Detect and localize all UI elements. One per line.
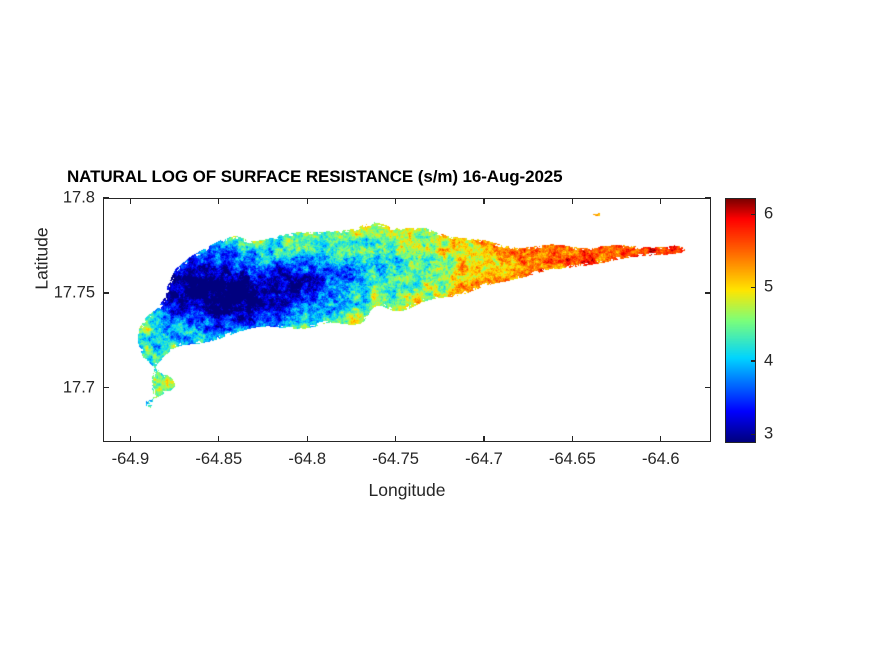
y-tick-right (705, 387, 711, 388)
colorbar-gradient (726, 199, 755, 442)
x-tick-top (395, 198, 396, 204)
x-tick-label: -64.65 (549, 450, 596, 469)
x-tick-bottom (572, 436, 573, 442)
y-tick-left (103, 387, 109, 388)
x-tick-label: -64.85 (195, 450, 242, 469)
x-tick-top (130, 198, 131, 204)
colorbar-tick-label: 4 (764, 351, 773, 370)
x-tick-label: -64.9 (112, 450, 150, 469)
x-tick-top (572, 198, 573, 204)
x-tick-bottom (395, 436, 396, 442)
map-axes (103, 198, 711, 442)
surface-resistance-heatmap (104, 199, 710, 441)
y-axis-label: Latitude (32, 184, 53, 334)
colorbar-tick (751, 360, 756, 361)
x-tick-bottom (483, 436, 484, 442)
page-title: NATURAL LOG OF SURFACE RESISTANCE (s/m) … (67, 167, 767, 187)
x-tick-label: -64.7 (465, 450, 503, 469)
colorbar-tick-label: 3 (764, 425, 773, 444)
x-tick-top (307, 198, 308, 204)
x-tick-bottom (307, 436, 308, 442)
x-tick-bottom (130, 436, 131, 442)
x-tick-label: -64.6 (642, 450, 680, 469)
x-tick-top (218, 198, 219, 204)
colorbar-tick-label: 6 (764, 205, 773, 224)
x-tick-bottom (660, 436, 661, 442)
y-tick-right (705, 197, 711, 198)
colorbar-tick (751, 287, 756, 288)
y-tick-right (705, 292, 711, 293)
colorbar-tick (751, 434, 756, 435)
y-tick-left (103, 197, 109, 198)
x-tick-label: -64.75 (372, 450, 419, 469)
x-tick-bottom (218, 436, 219, 442)
x-tick-top (660, 198, 661, 204)
y-tick-label: 17.7 (7, 378, 95, 397)
colorbar-tick-label: 5 (764, 278, 773, 297)
colorbar-tick (751, 214, 756, 215)
x-tick-label: -64.8 (288, 450, 326, 469)
colorbar (725, 198, 756, 443)
figure-canvas: NATURAL LOG OF SURFACE RESISTANCE (s/m) … (0, 0, 875, 656)
x-tick-top (483, 198, 484, 204)
y-tick-left (103, 292, 109, 293)
x-axis-label: Longitude (103, 480, 711, 501)
